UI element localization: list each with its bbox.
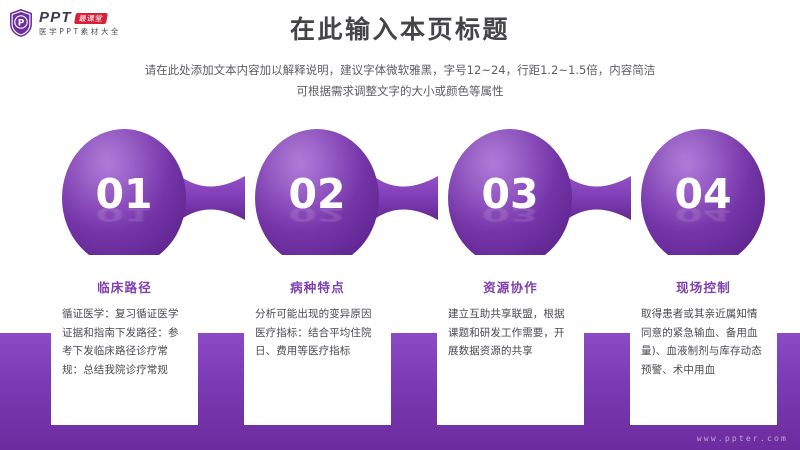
slide-canvas: P PPT 最课堂 医学PPT素材大全 在此输入本页标题 请在此处添加文本内容加… <box>0 0 800 450</box>
step-number-01: 01 <box>59 170 189 218</box>
step-blob-row: 01 02 03 04 01 02 03 04 <box>0 128 800 268</box>
step-card-02-body: 分析可能出现的变异原因医疗指标：结合平均住院日、费用等医疗指标 <box>253 305 382 361</box>
step-card-04[interactable]: 现场控制 取得患者或其亲近属知情同意的紧急输血、备用血量)、血液制剂与库存动态预… <box>630 255 777 425</box>
step-cards-row: 临床路径 循证医学：复习循证医学证据和指南下发路径：参考下发临床路径诊疗常规：总… <box>0 255 800 430</box>
step-number-04: 04 <box>638 170 768 218</box>
step-card-04-body: 取得患者或其亲近属知情同意的紧急输血、备用血量)、血液制剂与库存动态预警、术中用… <box>639 305 768 380</box>
footer-url: www.ppter.com <box>697 434 788 443</box>
step-card-02[interactable]: 病种特点 分析可能出现的变异原因医疗指标：结合平均住院日、费用等医疗指标 <box>244 255 391 425</box>
subtitle-line-1: 请在此处添加文本内容加以解释说明，建议字体微软雅黑，字号12~24，行距1.2~… <box>0 60 800 81</box>
step-card-02-title: 病种特点 <box>253 277 382 296</box>
header-block: 在此输入本页标题 请在此处添加文本内容加以解释说明，建议字体微软雅黑，字号12~… <box>0 14 800 102</box>
step-card-04-title: 现场控制 <box>639 277 768 296</box>
page-subtitle: 请在此处添加文本内容加以解释说明，建议字体微软雅黑，字号12~24，行距1.2~… <box>0 60 800 103</box>
page-title: 在此输入本页标题 <box>0 14 800 47</box>
step-number-02: 02 <box>252 170 382 218</box>
step-card-01[interactable]: 临床路径 循证医学：复习循证医学证据和指南下发路径：参考下发临床路径诊疗常规：总… <box>51 255 198 425</box>
step-card-03-body: 建立互助共享联盟，根据课题和研发工作需要，开展数据资源的共享 <box>446 305 575 361</box>
step-card-01-body: 循证医学：复习循证医学证据和指南下发路径：参考下发临床路径诊疗常规：总结我院诊疗… <box>60 305 189 380</box>
step-number-03: 03 <box>445 170 575 218</box>
subtitle-line-2: 可根据需求调整文字的大小或颜色等属性 <box>0 81 800 102</box>
step-card-01-title: 临床路径 <box>60 277 189 296</box>
step-card-03-title: 资源协作 <box>446 277 575 296</box>
step-card-03[interactable]: 资源协作 建立互助共享联盟，根据课题和研发工作需要，开展数据资源的共享 <box>437 255 584 425</box>
